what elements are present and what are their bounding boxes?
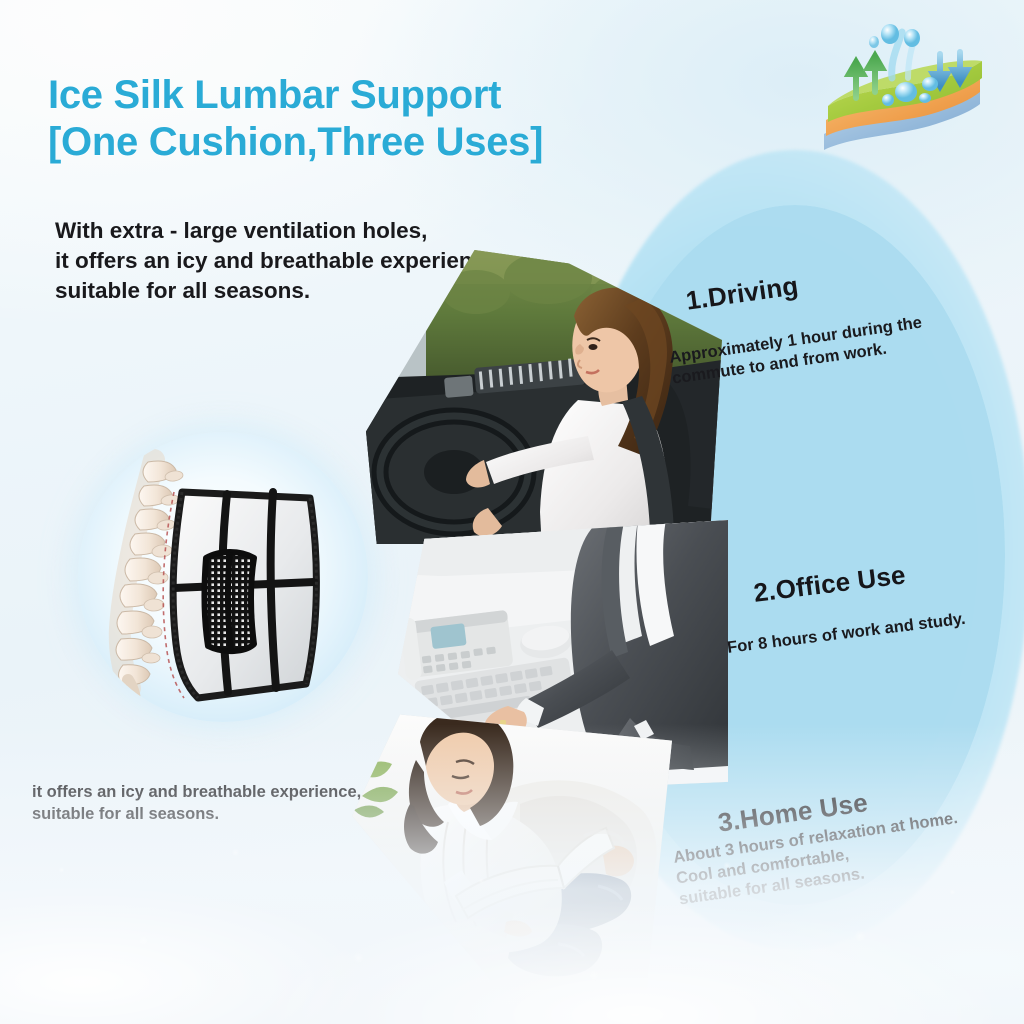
breathable-fabric-layers-icon (812, 22, 988, 170)
subtitle-line-1: With extra - large ventilation holes, (55, 216, 504, 246)
title-line-2: [One Cushion,Three Uses] (48, 119, 543, 166)
title-line-1: Ice Silk Lumbar Support (48, 72, 543, 119)
infographic-canvas: Ice Silk Lumbar Support [One Cushion,Thr… (0, 0, 1024, 1024)
subtitle-line-2: it offers an icy and breathable experien… (55, 246, 504, 276)
page-title: Ice Silk Lumbar Support [One Cushion,Thr… (48, 72, 543, 166)
bottom-caption: it offers an icy and breathable experien… (32, 782, 361, 826)
bottom-caption-line-1: it offers an icy and breathable experien… (32, 782, 361, 804)
bottom-caption-line-2: suitable for all seasons. (32, 804, 361, 826)
lumbar-cushion-mesh (173, 492, 316, 698)
subtitle-block: With extra - large ventilation holes, it… (55, 216, 504, 306)
subtitle-line-3: suitable for all seasons. (55, 276, 504, 306)
spine-lumbar-cushion-diagram (78, 432, 368, 722)
photo-home (352, 700, 672, 990)
